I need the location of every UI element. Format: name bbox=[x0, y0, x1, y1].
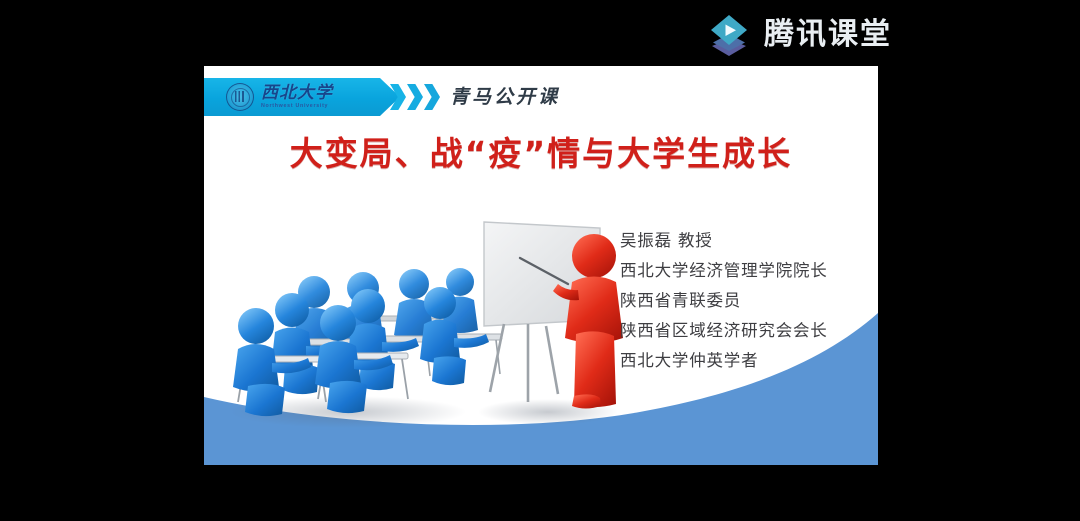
slide-title: 大变局、战“疫”情与大学生成长 bbox=[204, 136, 878, 172]
speaker-title-line-4: 西北大学仲英学者 bbox=[620, 346, 878, 376]
video-player-frame: 腾讯课堂 西北大学 Northwest University bbox=[0, 0, 1080, 521]
speaker-title-line-2: 陕西省青联委员 bbox=[620, 286, 878, 316]
speaker-title-line-1: 西北大学经济管理学院院长 bbox=[620, 256, 878, 286]
chevron-group bbox=[390, 84, 440, 110]
university-name-block: 西北大学 Northwest University bbox=[261, 85, 333, 109]
chevron-right-icon bbox=[390, 84, 406, 110]
chevron-right-icon bbox=[407, 84, 423, 110]
course-series-label: 青马公开课 bbox=[450, 82, 560, 112]
university-name-cn: 西北大学 bbox=[261, 85, 333, 102]
classroom-lecture-illustration bbox=[228, 206, 648, 436]
presentation-slide: 西北大学 Northwest University 青马公开课 大变局、战“疫”… bbox=[204, 66, 878, 465]
tencent-classroom-watermark: 腾讯课堂 bbox=[706, 12, 892, 58]
slide-header-banner: 西北大学 Northwest University 青马公开课 bbox=[204, 78, 878, 116]
university-banner-bar: 西北大学 Northwest University bbox=[204, 78, 400, 116]
speaker-title-line-3: 陕西省区域经济研究会会长 bbox=[620, 316, 878, 346]
university-seal-icon bbox=[226, 83, 254, 111]
speaker-credentials: 吴振磊 教授 西北大学经济管理学院院长 陕西省青联委员 陕西省区域经济研究会会长… bbox=[620, 226, 878, 376]
university-name-en: Northwest University bbox=[261, 104, 334, 109]
chevron-right-icon bbox=[424, 84, 440, 110]
tencent-classroom-brand-text: 腾讯课堂 bbox=[764, 20, 892, 50]
speaker-name-line: 吴振磊 教授 bbox=[620, 226, 878, 256]
tencent-classroom-logo-icon bbox=[706, 12, 752, 58]
university-logo: 西北大学 Northwest University bbox=[204, 83, 333, 111]
